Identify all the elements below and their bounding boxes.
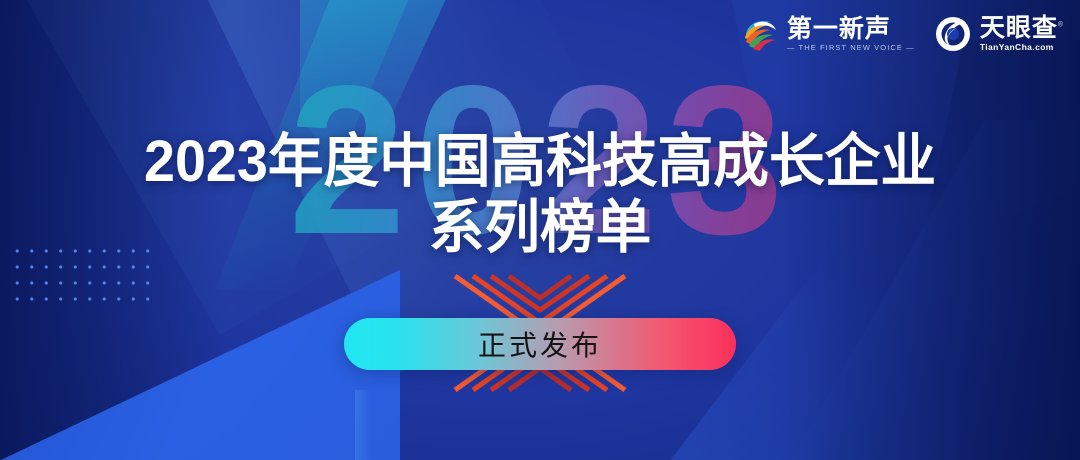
logo-tianyancha-name: 天眼查®	[980, 15, 1064, 41]
swirl-ribbon-icon	[740, 14, 780, 54]
logo-diyixinsheng-tagline: — THE FIRST NEW VOICE —	[787, 43, 915, 52]
logo-tianyancha-tagline: TianYanCha.com	[980, 43, 1064, 52]
poster-banner: 2023 第一新声 — THE FIRST NEW VOICE —	[0, 0, 1080, 460]
logo-diyixinsheng[interactable]: 第一新声 — THE FIRST NEW VOICE —	[740, 14, 915, 54]
logo-tianyancha-text: 天眼查® TianYanCha.com	[980, 15, 1064, 53]
logo-tianyancha-name-label: 天眼查	[980, 14, 1058, 42]
release-announcement-label: 正式发布	[478, 324, 602, 364]
logo-diyixinsheng-name: 第一新声	[787, 16, 915, 42]
poster-title: 2023年度中国高科技高成长企业 系列榜单	[0, 132, 1080, 259]
title-line-2: 系列榜单	[22, 198, 1059, 258]
camera-aperture-eye-icon	[933, 14, 973, 54]
title-line-1: 2023年度中国高科技高成长企业	[22, 132, 1059, 192]
logo-tianyancha[interactable]: 天眼查® TianYanCha.com	[933, 14, 1064, 54]
release-announcement-button[interactable]: 正式发布	[344, 318, 736, 370]
logo-diyixinsheng-text: 第一新声 — THE FIRST NEW VOICE —	[787, 16, 915, 52]
registered-trademark-icon: ®	[1058, 22, 1064, 29]
bottom-left-triangle-edge	[355, 390, 371, 460]
logo-bar: 第一新声 — THE FIRST NEW VOICE — 天眼查® TianYa…	[740, 14, 1064, 54]
